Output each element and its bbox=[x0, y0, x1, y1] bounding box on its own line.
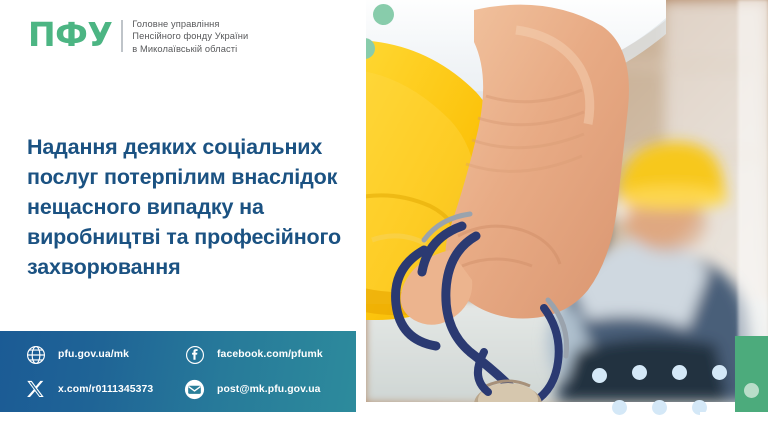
decor-dot-on-panel bbox=[744, 383, 759, 398]
contact-x-twitter[interactable]: x.com/r0111345373 bbox=[24, 378, 153, 401]
hero-photo bbox=[366, 0, 768, 402]
bottom-white-strip bbox=[700, 412, 768, 432]
email-label: post@mk.pfu.gov.ua bbox=[217, 384, 321, 395]
website-label: pfu.gov.ua/mk bbox=[58, 349, 129, 360]
org-line-3: в Миколаївській області bbox=[132, 43, 248, 55]
banner-canvas: ПФУ Головне управління Пенсійного фонду … bbox=[0, 0, 768, 432]
contact-facebook[interactable]: facebook.com/pfumk bbox=[183, 343, 323, 366]
facebook-icon bbox=[183, 343, 206, 366]
email-icon bbox=[183, 378, 206, 401]
org-line-1: Головне управління bbox=[132, 18, 248, 30]
organization-name: Головне управління Пенсійного фонду Укра… bbox=[123, 18, 248, 55]
x-twitter-icon bbox=[24, 378, 47, 401]
globe-icon bbox=[24, 343, 47, 366]
x-twitter-label: x.com/r0111345373 bbox=[58, 384, 153, 395]
facebook-label: facebook.com/pfumk bbox=[217, 349, 323, 360]
decor-dots-blue bbox=[592, 360, 742, 414]
contact-website[interactable]: pfu.gov.ua/mk bbox=[24, 343, 129, 366]
contact-footer-bar: pfu.gov.ua/mk facebook.com/pfumk x.com/r… bbox=[0, 331, 356, 412]
logo-monogram: ПФУ bbox=[28, 18, 121, 51]
org-line-2: Пенсійного фонду України bbox=[132, 30, 248, 42]
pfu-logo: ПФУ Головне управління Пенсійного фонду … bbox=[28, 18, 248, 55]
headline-text: Надання деяких соціальних послуг потерпі… bbox=[27, 132, 347, 282]
contact-email[interactable]: post@mk.pfu.gov.ua bbox=[183, 378, 321, 401]
